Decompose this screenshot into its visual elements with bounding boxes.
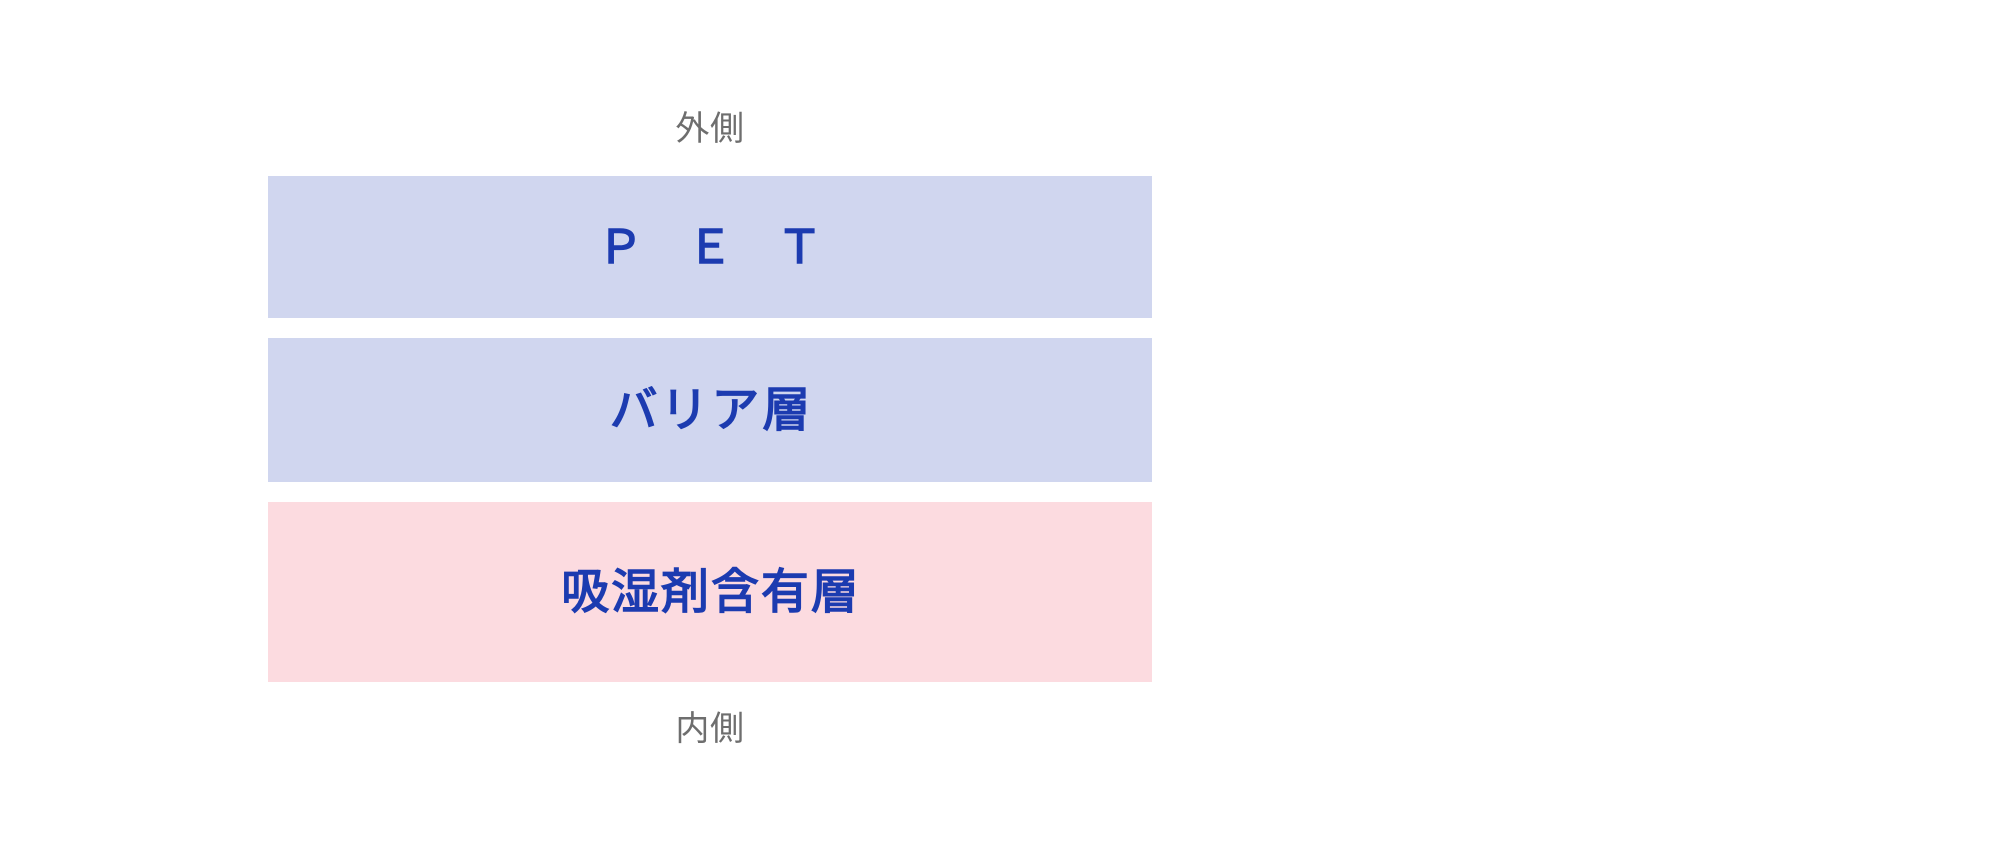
outer-side-label: 外側 [268,112,1152,146]
layer-label-desiccant: 吸湿剤含有層 [559,568,860,616]
layer-block-barrier: バリア層 [268,338,1152,482]
layer-block-desiccant: 吸湿剤含有層 [268,502,1152,682]
layer-block-pet: Ｐ Ｅ Ｔ [268,176,1152,318]
layer-label-pet: Ｐ Ｅ Ｔ [584,224,837,270]
diagram-column: 外側 Ｐ Ｅ Ｔ バリア層 吸湿剤含有層 内側 [268,0,1152,844]
layer-label-barrier: バリア層 [607,386,813,434]
layer-stack-diagram: 外側 Ｐ Ｅ Ｔ バリア層 吸湿剤含有層 内側 [0,0,2000,844]
inner-side-label: 内側 [268,712,1152,746]
